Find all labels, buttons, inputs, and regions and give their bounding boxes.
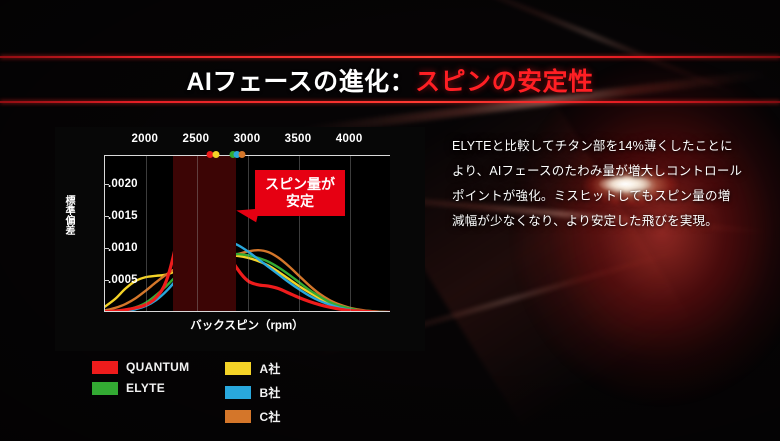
x-tick-label: 2000 xyxy=(131,133,158,145)
legend-label: QUANTUM xyxy=(126,360,189,374)
description-line: ポイントが強化。ミスヒットしてもスピン量の増 xyxy=(452,184,752,209)
legend-label: B社 xyxy=(259,384,280,401)
legend-column-1: QUANTUMELYTE xyxy=(92,360,189,425)
y-tick-label: .0010 xyxy=(108,242,138,254)
y-tick-label: .0020 xyxy=(108,178,138,190)
page-title-accent: スピンの安定性 xyxy=(415,62,594,98)
y-tick-mark xyxy=(104,216,109,217)
callout-line-2: 安定 xyxy=(265,193,335,210)
callout-box: スピン量が 安定 xyxy=(255,170,345,216)
description-line: より、AIフェースのたわみ量が増大しコントロール xyxy=(452,159,752,184)
legend-item: ELYTE xyxy=(92,381,189,395)
y-tick-mark xyxy=(104,184,109,185)
legend-swatch xyxy=(92,382,118,395)
x-tick-label: 4000 xyxy=(336,133,363,145)
description-line: 減幅が少なくなり、より安定した飛びを実現。 xyxy=(452,209,752,234)
x-axis-label: バックスピン（rpm） xyxy=(104,317,390,333)
grid-line xyxy=(350,156,351,311)
description-line: ELYTEと比較してチタン部を14%薄くしたことに xyxy=(452,134,752,159)
y-tick-mark xyxy=(104,248,109,249)
page-title-primary: AIフェースの進化： xyxy=(186,62,415,98)
legend-swatch xyxy=(92,361,118,374)
x-tick-label: 3000 xyxy=(234,133,261,145)
callout-line-1: スピン量が xyxy=(265,176,335,193)
plot-area-wrapper: 20002500300035004000 .0005.0010.0015.002… xyxy=(104,155,390,312)
y-tick-label: .0015 xyxy=(108,210,138,222)
legend-swatch xyxy=(225,386,251,399)
legend-swatch xyxy=(225,362,251,375)
description-text: ELYTEと比較してチタン部を14%薄くしたことにより、AIフェースのたわみ量が… xyxy=(452,134,752,234)
plot-area xyxy=(104,155,390,312)
legend-column-2: A社B社C社 xyxy=(225,360,280,425)
chart-panel: 標準偏差 20002500300035004000 .0005.0010.001… xyxy=(55,127,425,351)
grid-line xyxy=(197,156,198,311)
legend-label: A社 xyxy=(259,360,280,377)
grid-line xyxy=(146,156,147,311)
y-tick-mark xyxy=(104,280,109,281)
x-tick-label: 3500 xyxy=(285,133,312,145)
slide-root: AIフェースの進化：スピンの安定性 標準偏差 20002500300035004… xyxy=(0,0,780,441)
legend-item: A社 xyxy=(225,360,280,377)
stability-band xyxy=(173,156,235,311)
legend-label: C社 xyxy=(259,408,280,425)
grid-line xyxy=(248,156,249,311)
legend-item: QUANTUM xyxy=(92,360,189,374)
chart-legend: QUANTUMELYTE A社B社C社 xyxy=(92,360,281,425)
mean-marker-A社 xyxy=(213,151,220,158)
legend-label: ELYTE xyxy=(126,381,165,395)
x-tick-label: 2500 xyxy=(183,133,210,145)
page-title: AIフェースの進化：スピンの安定性 xyxy=(0,56,780,103)
legend-item: C社 xyxy=(225,408,280,425)
mean-marker-C社 xyxy=(239,151,246,158)
y-axis-label: 標準偏差 xyxy=(63,195,73,235)
legend-item: B社 xyxy=(225,384,280,401)
legend-swatch xyxy=(225,410,251,423)
y-tick-label: .0005 xyxy=(108,274,138,286)
title-band: AIフェースの進化：スピンの安定性 xyxy=(0,56,780,103)
